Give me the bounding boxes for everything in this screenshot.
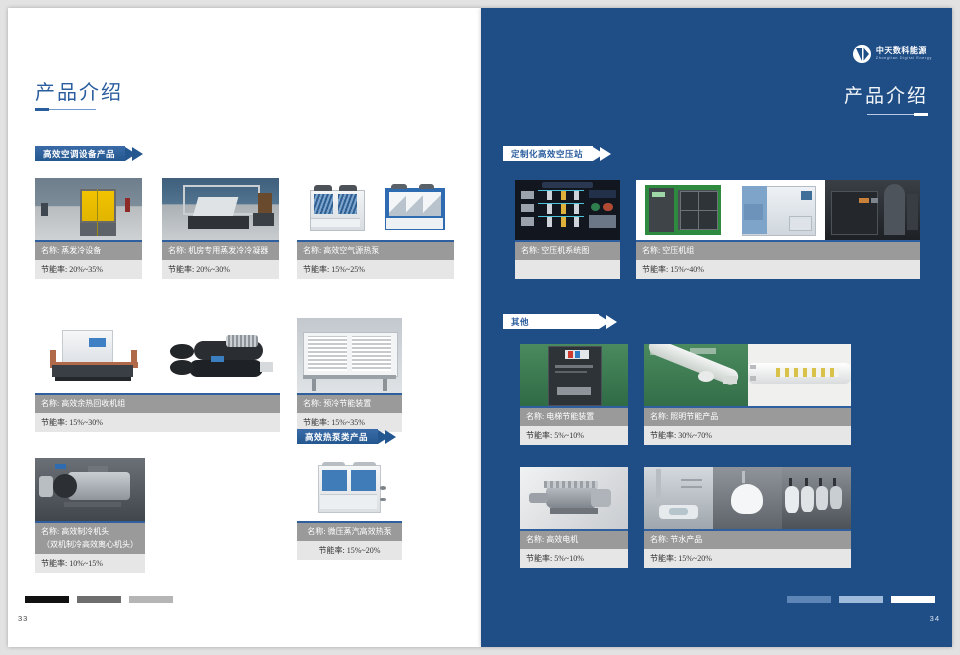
card-name: 名称: 节水产品 [644,529,851,549]
product-card[interactable]: 名称: 空压机组 节能率: 15%~40% [636,180,920,279]
card-name: 名称: 空压机系统图 [515,240,620,260]
card-name: 名称: 电梯节能装置 [520,406,628,426]
product-card[interactable]: 名称: 微压蒸汽高效热泵 节能率: 15%~20% [297,456,402,560]
left-page: 产品介绍 高效空调设备产品 名称: 蒸发冷设备 节能率: [8,8,481,647]
page-title-left-rule [35,109,96,110]
card-rate: 节能率: 20%~30% [162,260,279,279]
air-source-heat-pump-blue-photo [376,178,455,240]
card-image-row [644,467,851,529]
card-rate: 节能率: 15%~20% [644,549,851,568]
card-rate: 节能率: 15%~20% [297,541,402,560]
logo-mark-icon [852,44,872,64]
section-banner-air-station: 定制化高效空压站 [503,146,611,161]
product-card[interactable]: 名称: 机房专用蒸发冷冷凝器 节能率: 20%~30% [162,178,279,279]
waste-heat-recovery-compressor-photo [158,318,281,393]
card-name: 名称: 照明节能产品 [644,406,851,426]
chevron-double-right-icon [378,430,396,444]
card-image-row [35,318,280,393]
company-logo: 中天数科能源 Zhongtian Digital Energy [852,44,932,64]
card-image-row [520,344,628,406]
product-card[interactable]: 名称: 蒸发冷设备 节能率: 20%~35% [35,178,142,279]
product-card[interactable]: 名称: 预冷节能装置 节能率: 15%~35% [297,318,402,432]
card-name: 名称: 微压蒸汽高效热泵 [297,521,402,541]
section-banner-hvac-label: 高效空调设备产品 [35,146,125,161]
card-rate: 节能率: 5%~10% [520,426,628,445]
page-title-left: 产品介绍 [35,76,123,105]
card-name: 名称: 高效电机 [520,529,628,549]
page-title-right: 产品介绍 [844,81,928,108]
chevron-double-right-icon [599,315,617,329]
led-tube-lamp-photo-2 [748,344,852,406]
card-image-row [520,467,628,529]
card-name: 名称: 高效空气源热泵 [297,240,454,260]
elevator-energy-saving-device-photo [520,344,628,406]
card-name: 名称: 空压机组 [636,240,920,260]
datacenter-evaporative-condenser-photo [162,178,279,240]
card-image-row [515,180,620,240]
green-air-compressor-photo [636,180,731,240]
product-card[interactable]: 名称: 电梯节能装置 节能率: 5%~10% [520,344,628,445]
section-banner-heatpump: 高效热泵类产品 [297,429,396,444]
section-banner-hvac: 高效空调设备产品 [35,146,143,161]
footer-bar [25,596,69,603]
evaporative-cooling-unit-photo [35,178,142,240]
logo-name-en: Zhongtian Digital Energy [876,57,932,61]
card-name: 名称: 高效制冷机头 [35,521,145,539]
footer-bar [787,596,831,603]
water-saving-urinal-photo [713,467,782,529]
urinal-row-photo [782,467,851,529]
footer-bar [77,596,121,603]
card-image-row [297,318,402,393]
footer-bar [839,596,883,603]
section-banner-air-station-label: 定制化高效空压站 [503,146,593,161]
footer-bar [129,596,173,603]
section-banner-heatpump-label: 高效热泵类产品 [297,429,378,444]
brochure-spread: 产品介绍 高效空调设备产品 名称: 蒸发冷设备 节能率: [0,0,960,655]
card-rate: 节能率: 20%~35% [35,260,142,279]
card-name-secondary: （双机制冷高效离心机头） [35,539,145,554]
card-rate: 节能率: 15%~30% [35,413,280,432]
product-card[interactable]: 名称: 高效空气源热泵 节能率: 15%~25% [297,178,454,279]
footer-bars-left [25,596,173,603]
card-name: 名称: 高效余热回收机组 [35,393,280,413]
led-tube-lamp-photo-1 [644,344,748,406]
micro-pressure-steam-heat-pump-photo [297,456,402,521]
card-name: 名称: 预冷节能装置 [297,393,402,413]
card-image-row [162,178,279,240]
high-efficiency-motor-photo [520,467,628,529]
product-card[interactable]: 名称: 照明节能产品 节能率: 30%~70% [644,344,851,445]
section-banner-others: 其他 [503,314,617,329]
card-rate [515,260,620,279]
card-rate: 节能率: 30%~70% [644,426,851,445]
waste-heat-recovery-skid-photo [35,318,158,393]
card-image-row [297,178,454,240]
card-image-row [636,180,920,240]
card-image-row [297,456,402,521]
right-page: 中天数科能源 Zhongtian Digital Energy 产品介绍 定制化… [481,8,952,647]
footer-bars-right [787,596,935,603]
product-card[interactable]: 名称: 高效余热回收机组 节能率: 15%~30% [35,318,280,432]
pre-cooling-energy-saving-device-photo [297,318,402,393]
page-title-right-rule [867,114,928,115]
card-rate: 节能率: 15%~40% [636,260,920,279]
logo-name-cn: 中天数科能源 [876,47,932,55]
product-card[interactable]: 名称: 节水产品 节能率: 15%~20% [644,467,851,568]
product-card[interactable]: 名称: 空压机系统图 [515,180,620,279]
air-compressor-system-diagram-screenshot [515,180,620,240]
air-source-heat-pump-white-photo [297,178,376,240]
card-image-row [35,458,145,521]
product-card[interactable]: 名称: 高效电机 节能率: 5%~10% [520,467,628,568]
page-number-right: 34 [930,614,940,623]
water-saving-sink-photo [644,467,713,529]
footer-bar [891,596,935,603]
industrial-compressor-room-photo [825,180,920,240]
card-rate: 节能率: 10%~15% [35,554,145,573]
card-rate: 节能率: 5%~10% [520,549,628,568]
card-image-row [35,178,142,240]
product-card[interactable]: 名称: 高效制冷机头 （双机制冷高效离心机头） 节能率: 10%~15% [35,458,145,573]
section-banner-others-label: 其他 [503,314,599,329]
centrifugal-chiller-head-photo [35,458,145,521]
blue-air-compressor-photo [731,180,826,240]
chevron-double-right-icon [593,147,611,161]
chevron-double-right-icon [125,147,143,161]
card-name: 名称: 机房专用蒸发冷冷凝器 [162,240,279,260]
card-rate: 节能率: 15%~25% [297,260,454,279]
card-image-row [644,344,851,406]
page-number-left: 33 [18,614,28,623]
card-name: 名称: 蒸发冷设备 [35,240,142,260]
